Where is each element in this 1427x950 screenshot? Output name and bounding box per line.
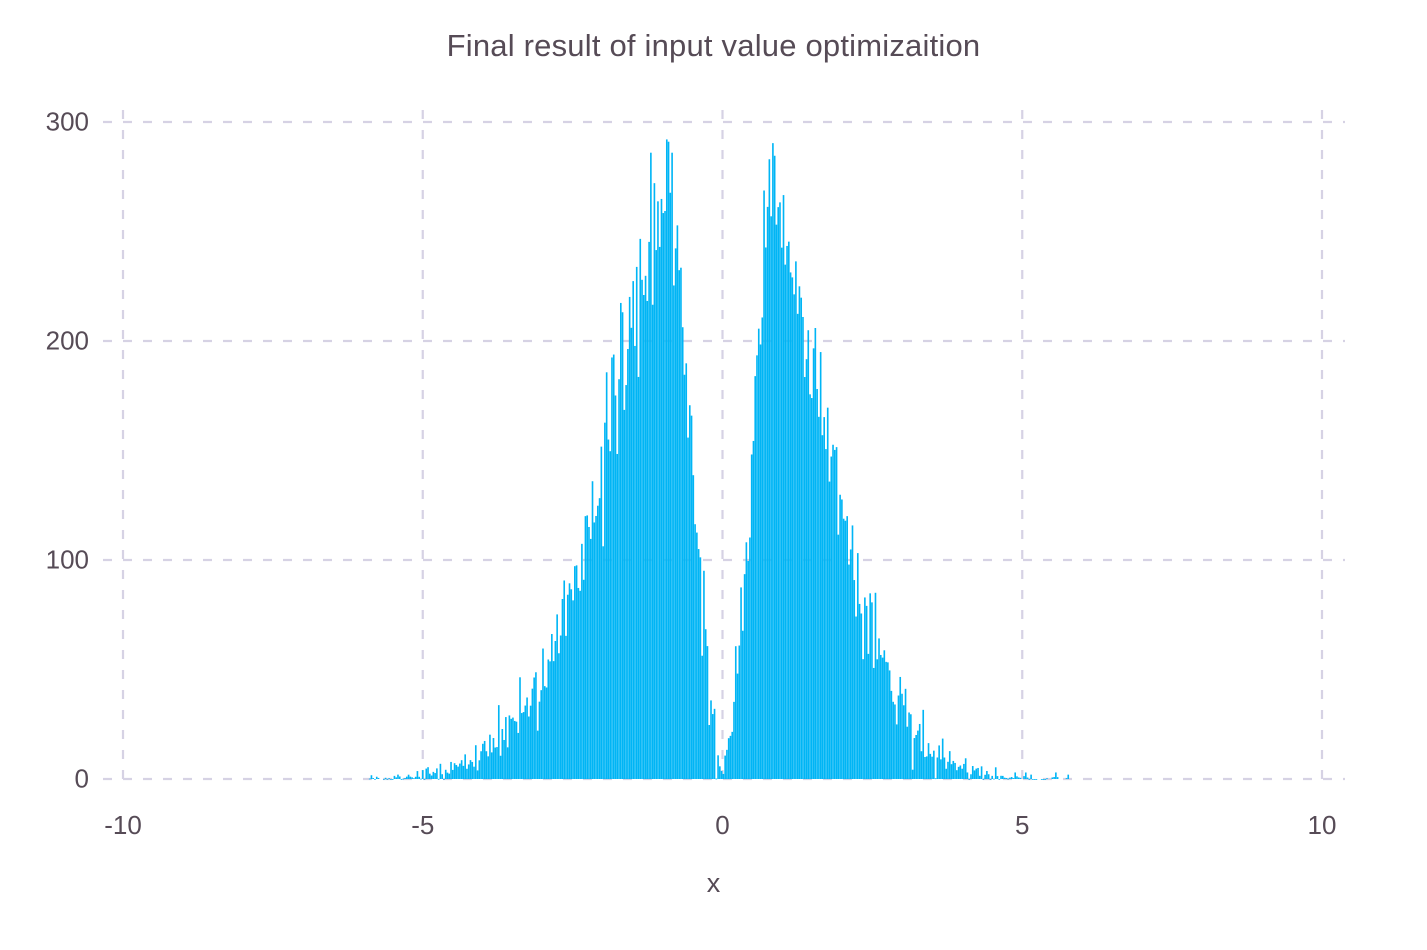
histogram-bar [411, 777, 413, 779]
histogram-bar [535, 672, 537, 779]
histogram-bar [387, 779, 389, 780]
histogram-bar [903, 705, 905, 779]
x-tick-label: 5 [1015, 810, 1029, 841]
histogram-bar [664, 211, 666, 779]
histogram-bar [551, 634, 553, 779]
histogram-bar [693, 475, 695, 779]
histogram-bar [875, 593, 877, 779]
histogram-bar [929, 754, 931, 779]
histogram-bar [602, 546, 604, 779]
histogram-bar [931, 757, 933, 779]
histogram-bar [746, 542, 748, 779]
histogram-bar [457, 767, 459, 779]
histogram-bar [861, 613, 863, 779]
histogram-bar [510, 719, 512, 779]
histogram-bar [639, 239, 641, 779]
histogram-bar [480, 751, 482, 779]
histogram-bar [1009, 778, 1011, 779]
histogram-bar [891, 691, 893, 779]
histogram-bar [733, 702, 735, 779]
histogram-bar [698, 549, 700, 779]
histogram-bar [441, 774, 443, 779]
histogram-bar [906, 727, 908, 779]
histogram-bar [944, 758, 946, 779]
histogram-bar [378, 778, 380, 779]
histogram-bar [715, 779, 717, 780]
histogram-bar [760, 344, 762, 779]
x-tick-label: -5 [411, 810, 434, 841]
histogram-bar [555, 641, 557, 779]
histogram-bar [983, 779, 985, 780]
histogram-bar [606, 372, 608, 779]
histogram-bar [436, 768, 438, 779]
histogram-bar [369, 779, 371, 780]
histogram-bar [846, 516, 848, 779]
histogram-bar [624, 410, 626, 779]
histogram-bar [471, 762, 473, 779]
histogram-bar [914, 738, 916, 779]
histogram-bar [448, 774, 450, 779]
histogram-bar [1067, 775, 1069, 779]
histogram-bar [670, 193, 672, 779]
histogram-bar [1046, 778, 1048, 779]
histogram-bar [519, 677, 521, 779]
histogram-bar [935, 778, 937, 779]
histogram-bar [908, 712, 910, 779]
histogram-bar [394, 776, 396, 779]
histogram-bar [937, 757, 939, 779]
histogram-bar [979, 776, 981, 779]
histogram-bar [570, 589, 572, 779]
histogram-bar [719, 766, 721, 779]
histogram-bar [417, 771, 419, 779]
histogram-bar [869, 593, 871, 779]
histogram-bar [928, 743, 930, 779]
histogram-bar [776, 225, 778, 779]
histogram-bar [892, 702, 894, 779]
histogram-bar [374, 779, 376, 780]
histogram-bar [438, 779, 440, 780]
histogram-bar [498, 705, 500, 779]
histogram-bar [641, 280, 643, 779]
histogram-bar [636, 267, 638, 779]
histogram-bar [415, 777, 417, 779]
histogram-bar [385, 778, 387, 779]
histogram-bar [410, 777, 412, 779]
histogram-bar [484, 741, 486, 779]
histogram-bar [422, 770, 424, 779]
histogram-bar [795, 261, 797, 779]
histogram-bar [1034, 779, 1036, 780]
histogram-bar [1023, 776, 1025, 779]
histogram-bar [537, 731, 539, 779]
histogram-bar [569, 583, 571, 779]
histogram-bar [487, 756, 489, 779]
histogram-bar [956, 770, 958, 779]
histogram-bar [788, 242, 790, 779]
histogram-bar [678, 270, 680, 779]
histogram-bar [758, 329, 760, 779]
histogram-bar [885, 662, 887, 779]
histogram-bar [813, 348, 815, 779]
histogram-bar [984, 775, 986, 779]
histogram-bar [1044, 779, 1046, 780]
histogram-bar [468, 764, 470, 779]
histogram-bar [738, 646, 740, 779]
histogram-bar [645, 276, 647, 779]
histogram-bar [772, 143, 774, 779]
histogram-bar [593, 522, 595, 779]
histogram-bar [558, 653, 560, 779]
histogram-bar [845, 521, 847, 779]
histogram-bar [661, 199, 663, 779]
histogram-bar [700, 557, 702, 779]
histogram-bar [735, 646, 737, 779]
histogram-bar [855, 617, 857, 779]
histogram-bar [542, 649, 544, 779]
histogram-bar [512, 718, 514, 779]
histogram-bar [774, 156, 776, 779]
histogram-bar [592, 481, 594, 779]
histogram-bar [919, 724, 921, 779]
histogram-bar [516, 722, 518, 779]
gridlines [103, 110, 1345, 781]
histogram-bar [876, 659, 878, 779]
histogram-bar [848, 565, 850, 779]
histogram-bar [724, 756, 726, 779]
histogram-bar [509, 715, 511, 779]
histogram-bar [823, 417, 825, 779]
histogram-bar [816, 389, 818, 779]
histogram-bar [526, 697, 528, 779]
histogram-bar [710, 700, 712, 779]
histogram-bar [464, 754, 466, 779]
histogram-bar [599, 498, 601, 779]
y-tick-label: 100 [46, 545, 89, 576]
histogram-bar [445, 770, 447, 779]
histogram-bar [954, 763, 956, 779]
histogram-bar [1041, 779, 1043, 780]
histogram-bar [951, 764, 953, 779]
histogram-bar [632, 281, 634, 779]
histogram-bar [963, 764, 965, 779]
histogram-bar [942, 739, 944, 779]
histogram-bar [1002, 776, 1004, 779]
histogram-bar [769, 159, 771, 779]
histogram-bar [675, 248, 677, 779]
histogram-bar [767, 207, 769, 779]
histogram-bar [707, 646, 709, 779]
histogram-bar [590, 539, 592, 779]
histogram-bar [880, 655, 882, 779]
histogram-bar [424, 779, 426, 780]
histogram-bar [528, 717, 530, 779]
histogram-bar [376, 777, 378, 779]
histogram-bar [878, 638, 880, 779]
histogram-bar [549, 661, 551, 779]
histogram-bar [834, 450, 836, 779]
histogram-bar [579, 591, 581, 779]
histogram-bar [832, 445, 834, 779]
histogram-bar [565, 636, 567, 779]
histogram-bar [1013, 778, 1015, 779]
histogram-bar [447, 773, 449, 779]
histogram-bar [991, 776, 993, 779]
histogram-bar [493, 738, 495, 779]
histogram-bar [401, 779, 403, 780]
y-tick-label: 0 [75, 764, 89, 795]
histogram-bar [899, 677, 901, 779]
histogram-bar [726, 750, 728, 779]
x-tick-label: 0 [715, 810, 729, 841]
histogram-bar [431, 776, 433, 779]
histogram-bar [884, 650, 886, 779]
histogram-bar [961, 769, 963, 779]
histogram-bar [1052, 777, 1054, 779]
histogram-bar [662, 213, 664, 779]
histogram-bar [576, 565, 578, 779]
histogram-bar [404, 778, 406, 779]
histogram-bar [998, 779, 1000, 780]
histogram-bar [461, 760, 463, 779]
histogram-bar [811, 398, 813, 779]
histogram-bar [917, 731, 919, 779]
histogram-bar [790, 272, 792, 779]
histogram-bar [797, 314, 799, 779]
histogram-bar [539, 702, 541, 779]
histogram-bar [399, 776, 401, 779]
histogram-bar [574, 566, 576, 779]
histogram-bar [990, 779, 992, 780]
histogram-bar [668, 142, 670, 779]
histogram-bar [680, 268, 682, 779]
histogram-bar [533, 677, 535, 779]
histogram-bar [731, 732, 733, 779]
chart-figure: Final result of input value optimizaitio… [0, 0, 1427, 950]
histogram-bar [866, 606, 868, 779]
histogram-bar [684, 375, 686, 779]
histogram-bar [524, 706, 526, 779]
histogram-bar [901, 694, 903, 779]
histogram-bar [804, 377, 806, 779]
histogram-bar [556, 614, 558, 779]
chart-title: Final result of input value optimizaitio… [0, 28, 1427, 64]
histogram-bar [868, 654, 870, 779]
histogram-bar [839, 495, 841, 779]
histogram-bar [859, 604, 861, 779]
histogram-bar [747, 561, 749, 779]
histogram-bar [705, 629, 707, 779]
histogram-bar [491, 752, 493, 779]
histogram-bar [521, 713, 523, 779]
histogram-bar [829, 482, 831, 779]
histogram-bar [1043, 779, 1045, 780]
histogram-bar [792, 277, 794, 779]
histogram-bar [452, 770, 454, 779]
histogram-bar [945, 769, 947, 779]
histogram-bar [689, 405, 691, 779]
histogram-bar [949, 751, 951, 779]
histogram-bar [742, 631, 744, 779]
y-tick-label: 300 [46, 107, 89, 138]
histogram-bar [915, 735, 917, 779]
histogram-bar [793, 294, 795, 779]
histogram-bar [450, 762, 452, 779]
histogram-bar [388, 778, 390, 779]
histogram-bar [744, 574, 746, 779]
histogram-bar [703, 571, 705, 779]
histogram-bar [502, 729, 504, 779]
histogram-bar [756, 355, 758, 779]
histogram-bar [809, 394, 811, 779]
histogram-bar [696, 533, 698, 779]
histogram-bar [601, 447, 603, 779]
histogram-bar [560, 636, 562, 779]
histogram-bar [1057, 777, 1059, 779]
histogram-bar [631, 328, 633, 779]
histogram-bar [673, 285, 675, 779]
histogram-bar [625, 385, 627, 779]
histogram-bar [634, 346, 636, 779]
histogram-bar [514, 721, 516, 779]
histogram-bar [938, 745, 940, 779]
histogram-bar [926, 756, 928, 779]
histogram-bar [940, 759, 942, 779]
histogram-bar [1027, 778, 1029, 779]
histogram-bar [434, 773, 436, 779]
histogram-bar [597, 506, 599, 779]
histogram-bar [372, 778, 374, 779]
histogram-bar [671, 153, 673, 779]
histogram-bar [864, 597, 866, 779]
histogram-bar [986, 771, 988, 779]
histogram-bar [889, 670, 891, 779]
histogram-bar [708, 725, 710, 779]
histogram-bar [802, 317, 804, 779]
histogram-bar [952, 761, 954, 779]
histogram-bar [818, 417, 820, 779]
histogram-bar [852, 525, 854, 779]
histogram-bar [765, 247, 767, 779]
histogram-bar [1011, 777, 1013, 779]
histogram-bar [827, 408, 829, 779]
histogram-bar [857, 553, 859, 779]
histogram-bar [737, 674, 739, 779]
histogram-bar [517, 733, 519, 779]
histogram-bar [648, 242, 650, 779]
histogram-bar [507, 747, 509, 779]
histogram-bar [459, 764, 461, 779]
histogram-bar [479, 760, 481, 779]
histogram-bar [763, 191, 765, 779]
histogram-bar [477, 770, 479, 779]
histogram-bar [586, 515, 588, 779]
histogram-bar [1006, 778, 1008, 779]
histogram-bar [618, 379, 620, 779]
histogram-bar [807, 330, 809, 779]
plot-area [103, 110, 1345, 791]
histogram-bars [369, 139, 1069, 779]
histogram-bar [958, 767, 960, 779]
histogram-bar [753, 441, 755, 779]
histogram-bar [666, 139, 668, 779]
histogram-bar [494, 748, 496, 779]
histogram-bar [825, 449, 827, 779]
histogram-bar [650, 153, 652, 779]
histogram-bar [967, 772, 969, 779]
histogram-bar [924, 757, 926, 779]
histogram-bar [997, 776, 999, 779]
histogram-bar [1030, 775, 1032, 779]
histogram-bar [974, 770, 976, 779]
histogram-bar [418, 777, 420, 779]
histogram-bar [470, 760, 472, 779]
histogram-bar [1000, 776, 1002, 779]
histogram-bar [615, 395, 617, 779]
histogram-bar [406, 777, 408, 779]
histogram-bar [843, 519, 845, 779]
histogram-bar [712, 714, 714, 779]
histogram-bar [540, 690, 542, 779]
histogram-bar [572, 600, 574, 779]
histogram-bar [717, 755, 719, 779]
histogram-bar [629, 297, 631, 779]
histogram-bar [806, 359, 808, 779]
histogram-bar [475, 745, 477, 779]
histogram-bar [1036, 779, 1038, 780]
histogram-bar [609, 451, 611, 779]
histogram-bar [770, 216, 772, 779]
histogram-bar [652, 305, 654, 779]
histogram-bar [532, 689, 534, 779]
histogram-bar [862, 659, 864, 779]
x-axis-title: x [0, 868, 1427, 899]
histogram-bar [392, 779, 394, 780]
histogram-bar [654, 183, 656, 779]
histogram-bar [850, 549, 852, 779]
histogram-bar [503, 740, 505, 779]
histogram-bar [896, 724, 898, 779]
histogram-bar [627, 349, 629, 779]
histogram-bar [544, 686, 546, 779]
histogram-bar [905, 689, 907, 779]
histogram-bar [530, 706, 532, 779]
histogram-bar [505, 717, 507, 779]
histogram-bar [486, 751, 488, 779]
histogram-bar [965, 758, 967, 779]
histogram-bar [397, 775, 399, 779]
histogram-bar [443, 779, 445, 780]
histogram-bar [721, 771, 723, 779]
histogram-bar [553, 661, 555, 779]
histogram-bar [608, 440, 610, 779]
histogram-bar [960, 765, 962, 779]
histogram-bar [841, 499, 843, 779]
histogram-bar [622, 312, 624, 779]
histogram-bar [981, 766, 983, 779]
histogram-bar [402, 779, 404, 780]
histogram-bar [588, 527, 590, 779]
histogram-bar [970, 774, 972, 779]
histogram-bar [489, 735, 491, 779]
histogram-bar [677, 225, 679, 779]
histogram-bar [1016, 776, 1018, 779]
histogram-bar [429, 774, 431, 779]
histogram-bar [922, 710, 924, 779]
histogram-bar [1020, 778, 1022, 779]
histogram-bar [694, 524, 696, 779]
histogram-bar [562, 599, 564, 779]
